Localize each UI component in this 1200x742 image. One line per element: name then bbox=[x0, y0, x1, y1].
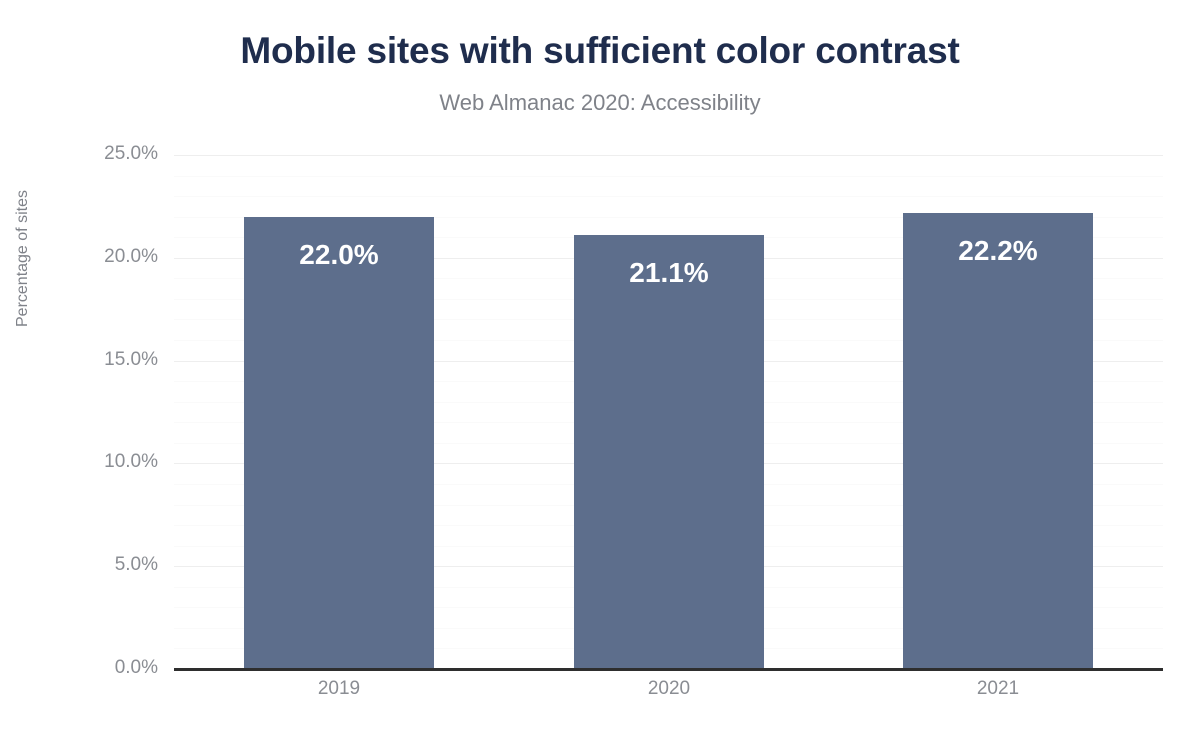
chart-figure: Mobile sites with sufficient color contr… bbox=[0, 0, 1200, 742]
y-axis-tick-labels: 0.0%5.0%10.0%15.0%20.0%25.0% bbox=[28, 155, 158, 669]
y-tick-label: 5.0% bbox=[38, 554, 158, 576]
y-tick-label: 10.0% bbox=[38, 451, 158, 473]
bar[interactable]: 22.2% bbox=[903, 213, 1093, 669]
bar[interactable]: 22.0% bbox=[244, 217, 434, 669]
y-tick-label: 15.0% bbox=[38, 349, 158, 371]
bar-value-label: 22.0% bbox=[244, 239, 434, 271]
gridline-minor bbox=[174, 196, 1163, 197]
y-tick-label: 0.0% bbox=[38, 657, 158, 679]
y-tick-label: 20.0% bbox=[38, 246, 158, 268]
x-axis-tick-labels: 201920202021 bbox=[174, 678, 1163, 718]
y-tick-label: 25.0% bbox=[38, 143, 158, 165]
x-tick-label: 2020 bbox=[574, 678, 764, 700]
chart-subtitle: Web Almanac 2020: Accessibility bbox=[0, 90, 1200, 116]
plot-area: 22.0%21.1%22.2% bbox=[174, 155, 1163, 669]
x-axis-line bbox=[174, 668, 1163, 671]
bar-value-label: 21.1% bbox=[574, 257, 764, 289]
x-tick-label: 2021 bbox=[903, 678, 1093, 700]
gridline-major bbox=[174, 155, 1163, 156]
bar[interactable]: 21.1% bbox=[574, 235, 764, 669]
gridline-minor bbox=[174, 176, 1163, 177]
bar-value-label: 22.2% bbox=[903, 235, 1093, 267]
page-title: Mobile sites with sufficient color contr… bbox=[0, 30, 1200, 72]
x-tick-label: 2019 bbox=[244, 678, 434, 700]
